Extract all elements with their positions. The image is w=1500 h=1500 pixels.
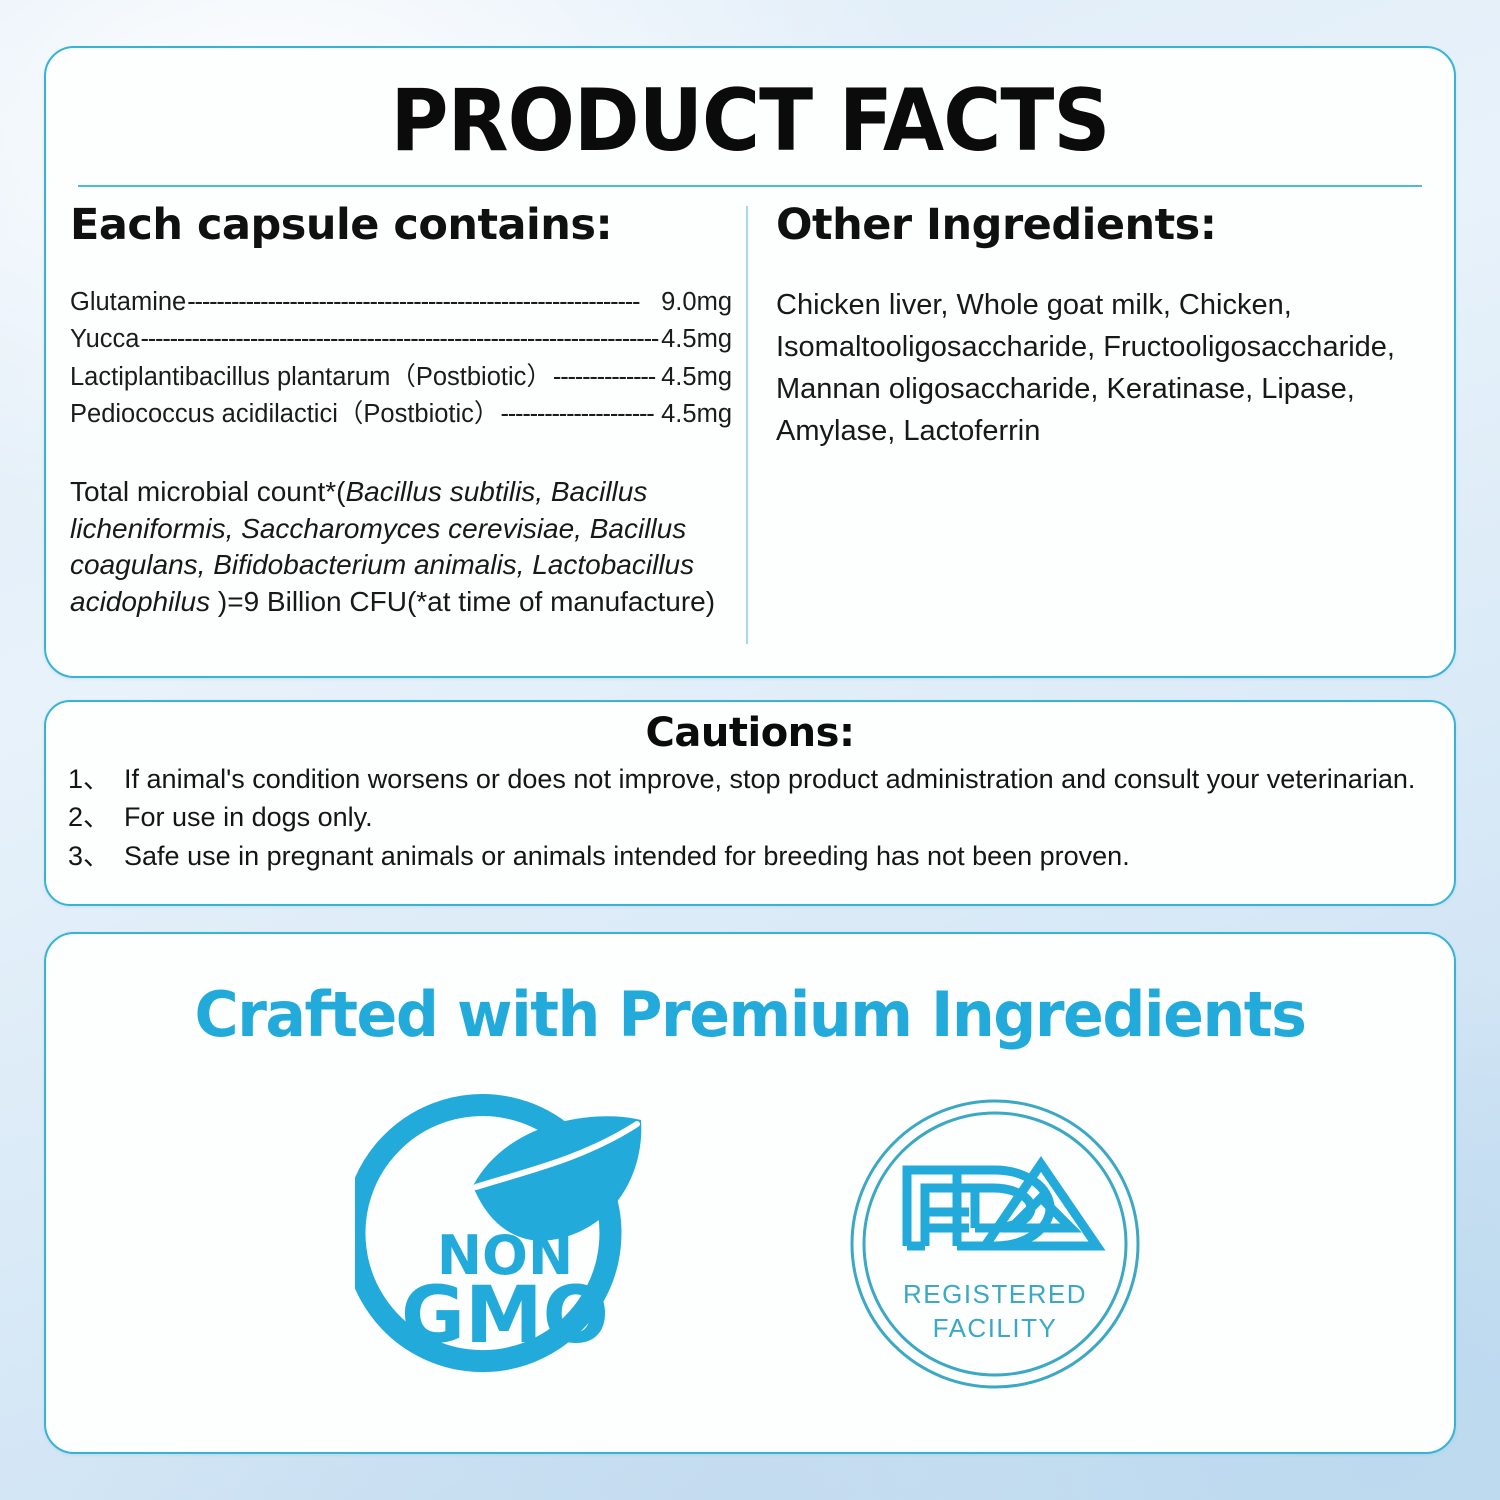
other-ingredients-body: Chicken liver, Whole goat milk, Chicken,… <box>776 284 1424 452</box>
caution-text: For use in dogs only. <box>124 802 373 832</box>
ingredient-amount: 4.5mg <box>661 396 732 433</box>
caution-number: 3、 <box>68 841 110 871</box>
facts-columns: Each capsule contains: Glutamine -------… <box>46 200 1454 662</box>
fda-line1: REGISTERED <box>903 1279 1087 1309</box>
product-facts-panel: PRODUCT FACTS Each capsule contains: Glu… <box>44 46 1456 678</box>
non-gmo-line2: GMO <box>401 1271 609 1361</box>
title-divider-rule <box>78 185 1422 187</box>
ingredient-row: Glutamine ------------------------------… <box>70 284 732 321</box>
other-ingredients-heading: Other Ingredients: <box>776 200 1424 250</box>
ingredient-leader: -------------- <box>553 359 660 396</box>
each-capsule-heading: Each capsule contains: <box>70 200 732 250</box>
caution-item: 1、If animal's condition worsens or does … <box>68 760 1430 798</box>
ingredient-row: Lactiplantibacillus plantarum（Postbiotic… <box>70 359 732 396</box>
other-ingredients-column: Other Ingredients: Chicken liver, Whole … <box>748 200 1454 662</box>
fda-monogram <box>907 1164 1097 1246</box>
caution-text: If animal's condition worsens or does no… <box>124 764 1415 794</box>
ingredient-name: Pediococcus acidilactici（Postbiotic） <box>70 396 499 433</box>
fda-icon: REGISTERED FACILITY <box>845 1094 1145 1394</box>
ingredient-amount: 4.5mg <box>661 321 732 358</box>
ingredient-leader: --------------------- <box>500 396 660 433</box>
ingredient-amount: 4.5mg <box>661 359 732 396</box>
microbial-suffix: )=9 Billion CFU(*at time of manufacture) <box>210 586 715 617</box>
product-label-page: PRODUCT FACTS Each capsule contains: Glu… <box>0 0 1500 1500</box>
cautions-heading: Cautions: <box>46 710 1454 756</box>
ingredient-row: Yucca ----------------------------------… <box>70 321 732 358</box>
ingredient-leader: ----------------------------------------… <box>140 321 660 358</box>
certification-badges: NON GMO <box>46 1074 1454 1414</box>
caution-item: 3、Safe use in pregnant animals or animal… <box>68 837 1430 875</box>
ingredient-leader: ----------------------------------------… <box>187 284 660 321</box>
ingredient-name: Yucca <box>70 321 139 358</box>
fda-registered-badge: REGISTERED FACILITY <box>845 1094 1145 1394</box>
ingredient-name: Glutamine <box>70 284 186 321</box>
non-gmo-icon: NON GMO <box>355 1094 655 1394</box>
page-title: PRODUCT FACTS <box>102 74 1397 169</box>
ingredient-list: Glutamine ------------------------------… <box>70 284 732 434</box>
fda-line2: FACILITY <box>933 1313 1058 1343</box>
premium-ingredients-panel: Crafted with Premium Ingredients NON GMO <box>44 932 1456 1454</box>
total-microbial-count: Total microbial count*(Bacillus subtilis… <box>70 474 726 621</box>
premium-heading: Crafted with Premium Ingredients <box>67 978 1433 1051</box>
each-capsule-column: Each capsule contains: Glutamine -------… <box>46 200 746 662</box>
cautions-list: 1、If animal's condition worsens or does … <box>46 760 1454 875</box>
caution-item: 2、For use in dogs only. <box>68 798 1430 836</box>
non-gmo-badge: NON GMO <box>355 1094 655 1394</box>
cautions-panel: Cautions: 1、If animal's condition worsen… <box>44 700 1456 906</box>
ingredient-amount: 9.0mg <box>661 284 732 321</box>
caution-number: 1、 <box>68 764 110 794</box>
caution-number: 2、 <box>68 802 110 832</box>
microbial-prefix: Total microbial count*( <box>70 476 345 507</box>
ingredient-name: Lactiplantibacillus plantarum（Postbiotic… <box>70 359 552 396</box>
caution-text: Safe use in pregnant animals or animals … <box>124 841 1130 871</box>
ingredient-row: Pediococcus acidilactici（Postbiotic） ---… <box>70 396 732 433</box>
